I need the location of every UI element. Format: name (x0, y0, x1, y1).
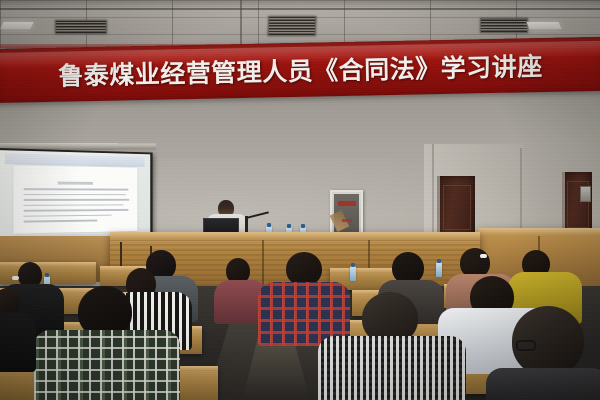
attendee-torso (34, 330, 180, 400)
bottle-cap (267, 223, 271, 227)
bottle-cap (351, 263, 355, 267)
ceiling-vent-icon (268, 16, 317, 36)
desk-top-edge (478, 228, 600, 236)
water-bottle (436, 262, 442, 277)
lecture-hall-photo: 鲁泰煤业经营管理人员《合同法》学习讲座 (0, 0, 600, 400)
eyeglasses-icon (516, 340, 536, 351)
ceiling-vent-icon (55, 20, 107, 34)
hair-accessory (12, 276, 19, 280)
bottle-cap (437, 259, 441, 263)
door-panel (443, 185, 471, 230)
screen-glare (0, 150, 150, 243)
bench-top-edge (0, 262, 96, 267)
ceiling-light-icon (0, 22, 33, 29)
attendee-torso (318, 336, 466, 400)
projection-surface (0, 150, 150, 243)
bottle-cap (45, 273, 49, 277)
hair-accessory (480, 254, 487, 258)
ceiling-seam-horizontal (0, 8, 600, 10)
framed-wall-poster (330, 190, 363, 238)
bottle-cap (287, 224, 291, 228)
ceiling-vent-icon (480, 18, 528, 33)
bench-top-edge (330, 268, 400, 273)
podium-top-edge (110, 232, 480, 240)
attendee-torso (0, 312, 36, 372)
attendee-torso (486, 368, 600, 400)
poster-subtitle-text (342, 219, 352, 223)
poster-title-text (338, 201, 356, 206)
poster-inner (334, 194, 359, 234)
ceiling-light-icon (526, 22, 561, 29)
water-bottle (350, 266, 356, 281)
wall-mounted-device-icon (580, 186, 591, 202)
attendee-head (286, 252, 322, 286)
bottle-cap (301, 224, 305, 228)
